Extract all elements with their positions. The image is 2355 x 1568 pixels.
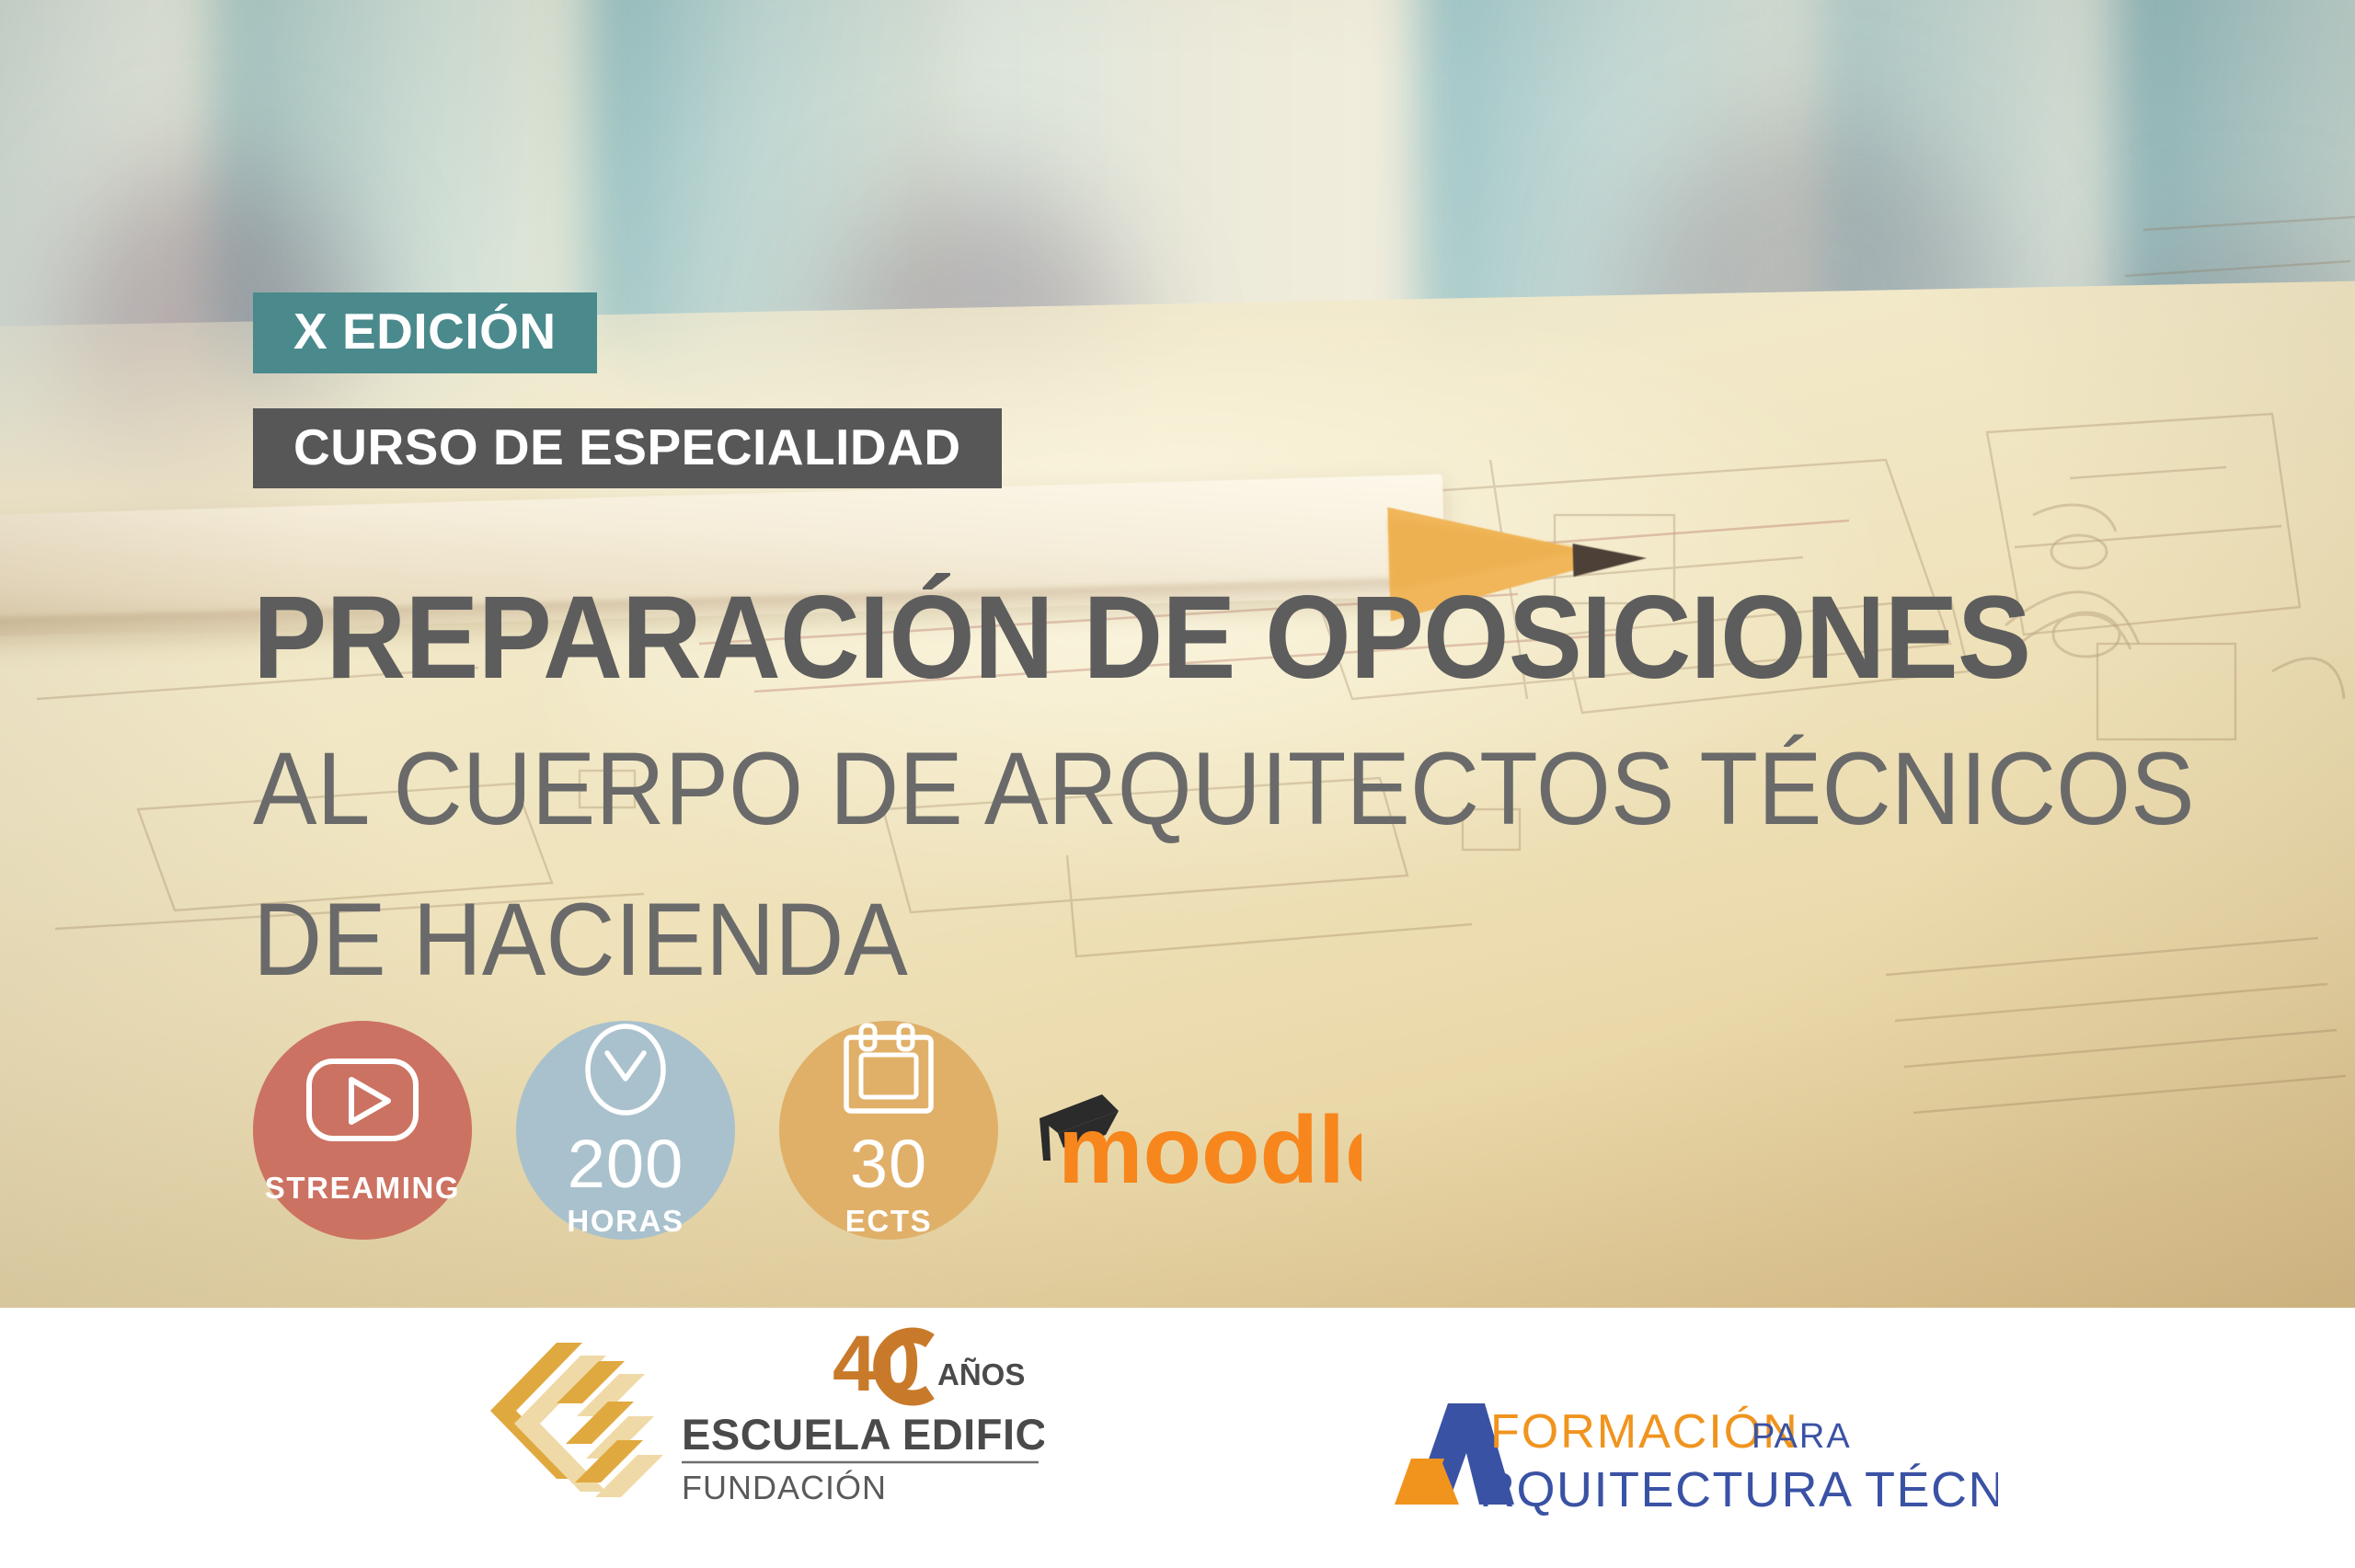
course-title-sub: AL CUERPO DE ARQUITECTOS TÉCNICOS DE HAC… — [253, 714, 2050, 1014]
course-title-sub-line2: DE HACIENDA — [253, 864, 2050, 1015]
anniversary-mark: 40 AÑOS — [833, 1324, 1025, 1408]
course-title-sub-line1: AL CUERPO DE ARQUITECTOS TÉCNICOS — [253, 731, 2195, 846]
feature-badge-hours: 200 HORAS — [516, 1021, 735, 1240]
feature-badge-ects-value: 30 — [850, 1131, 927, 1196]
feature-badge-streaming-label: STREAMING — [265, 1171, 460, 1206]
feature-badge-ects: 30 ECTS — [779, 1021, 998, 1240]
escuela-edificacion-mark-icon — [490, 1343, 663, 1497]
formacion-arquitectura-logo: FORMACIÓN PARA RQUITECTURA TÉCNICA — [1391, 1391, 1998, 1519]
footer-section — [0, 1308, 2355, 1568]
hero-content: X EDICIÓN CURSO DE ESPECIALIDAD PREPARAC… — [0, 0, 2355, 1308]
formacion-line1-secondary: PARA — [1752, 1417, 1852, 1456]
anniversary-word: AÑOS — [937, 1357, 1025, 1391]
play-video-icon — [304, 1056, 421, 1149]
escuela-name: ESCUELA EDIFICACIÓN — [682, 1410, 1044, 1459]
course-title-main: PREPARACIÓN DE OPOSICIONES — [253, 579, 2069, 697]
hero-section: X EDICIÓN CURSO DE ESPECIALIDAD PREPARAC… — [0, 0, 2355, 1308]
badge-edition: X EDICIÓN — [253, 292, 597, 373]
feature-badge-ects-label: ECTS — [845, 1204, 932, 1239]
badge-course-type: CURSO DE ESPECIALIDAD — [253, 408, 1002, 488]
feature-badge-streaming: STREAMING — [253, 1021, 472, 1240]
clock-icon — [583, 1022, 668, 1122]
moodle-wordmark: moodle — [1058, 1097, 1361, 1204]
formacion-line2: RQUITECTURA TÉCNICA — [1479, 1462, 1998, 1517]
course-title-block: PREPARACIÓN DE OPOSICIONES AL CUERPO DE … — [253, 579, 2185, 1014]
badge-course-type-label: CURSO DE ESPECIALIDAD — [293, 418, 961, 476]
feature-badges: STREAMING 200 HORAS — [253, 1021, 998, 1240]
escuela-edificacion-logo: 40 AÑOS ESCUELA EDIFICACIÓN FUNDACIÓN — [419, 1324, 1044, 1508]
feature-badge-hours-label: HORAS — [567, 1204, 684, 1239]
feature-badge-hours-value: 200 — [568, 1131, 684, 1196]
moodle-logo: moodle — [1030, 1076, 1361, 1214]
badge-edition-label: X EDICIÓN — [293, 302, 557, 361]
calendar-icon — [841, 1022, 936, 1122]
course-promotional-banner: X EDICIÓN CURSO DE ESPECIALIDAD PREPARAC… — [0, 0, 2355, 1568]
escuela-subtitle: FUNDACIÓN — [682, 1469, 887, 1506]
